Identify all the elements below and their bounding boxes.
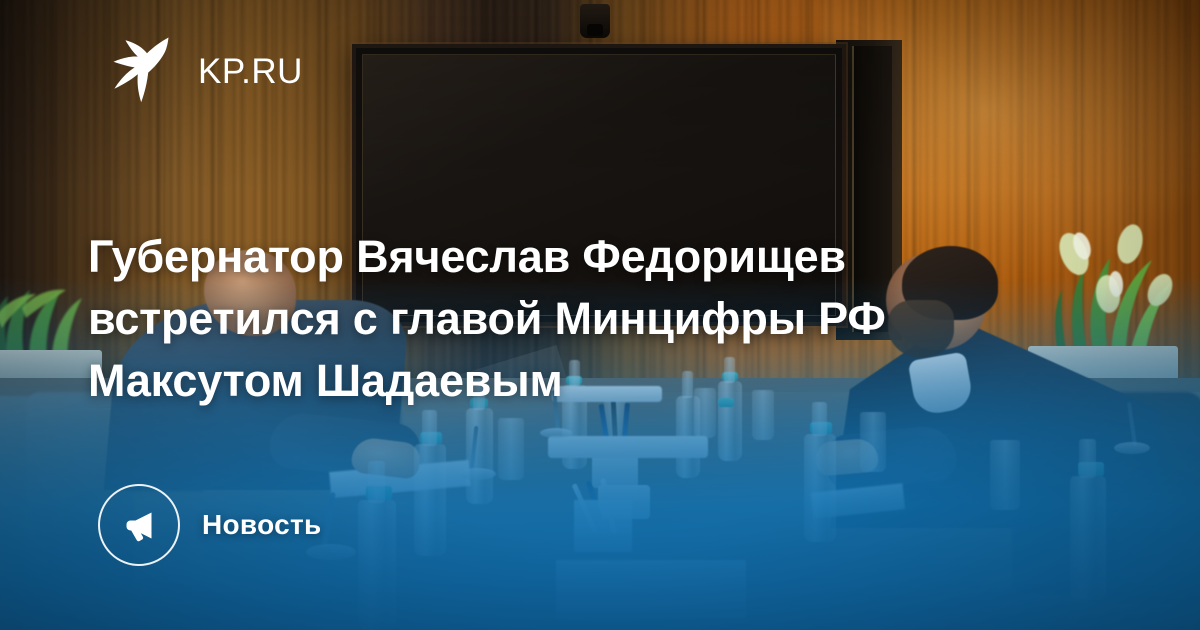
brand-name-text: KP.RU [198,54,303,89]
drinking-glass-1 [498,418,524,480]
swallow-bird-icon [106,34,180,108]
water-bottle-4 [358,500,396,630]
brand-logo[interactable]: KP.RU [106,34,303,108]
drinking-glass-6 [990,440,1020,510]
microphone-1 [452,420,498,480]
headline-title: Губернатор Вячеслав Федорищев встретился… [88,226,1088,412]
water-bottle-7 [1070,476,1106,600]
water-bottle-1 [414,444,446,556]
news-badge-label: Новость [202,509,322,541]
news-badge[interactable]: Новость [98,484,322,566]
water-bottle-6 [804,434,836,542]
planter-left [0,350,102,380]
drinking-glass-5 [860,412,886,472]
nameplate-2 [574,500,632,552]
desk-tray-2 [548,436,708,458]
nameplate-1 [556,560,746,618]
microphone-4 [1110,398,1154,454]
social-share-card: KP.RU Губернатор Вячеслав Федорищев встр… [0,0,1200,630]
megaphone-icon [98,484,180,566]
conference-camera [580,4,610,38]
